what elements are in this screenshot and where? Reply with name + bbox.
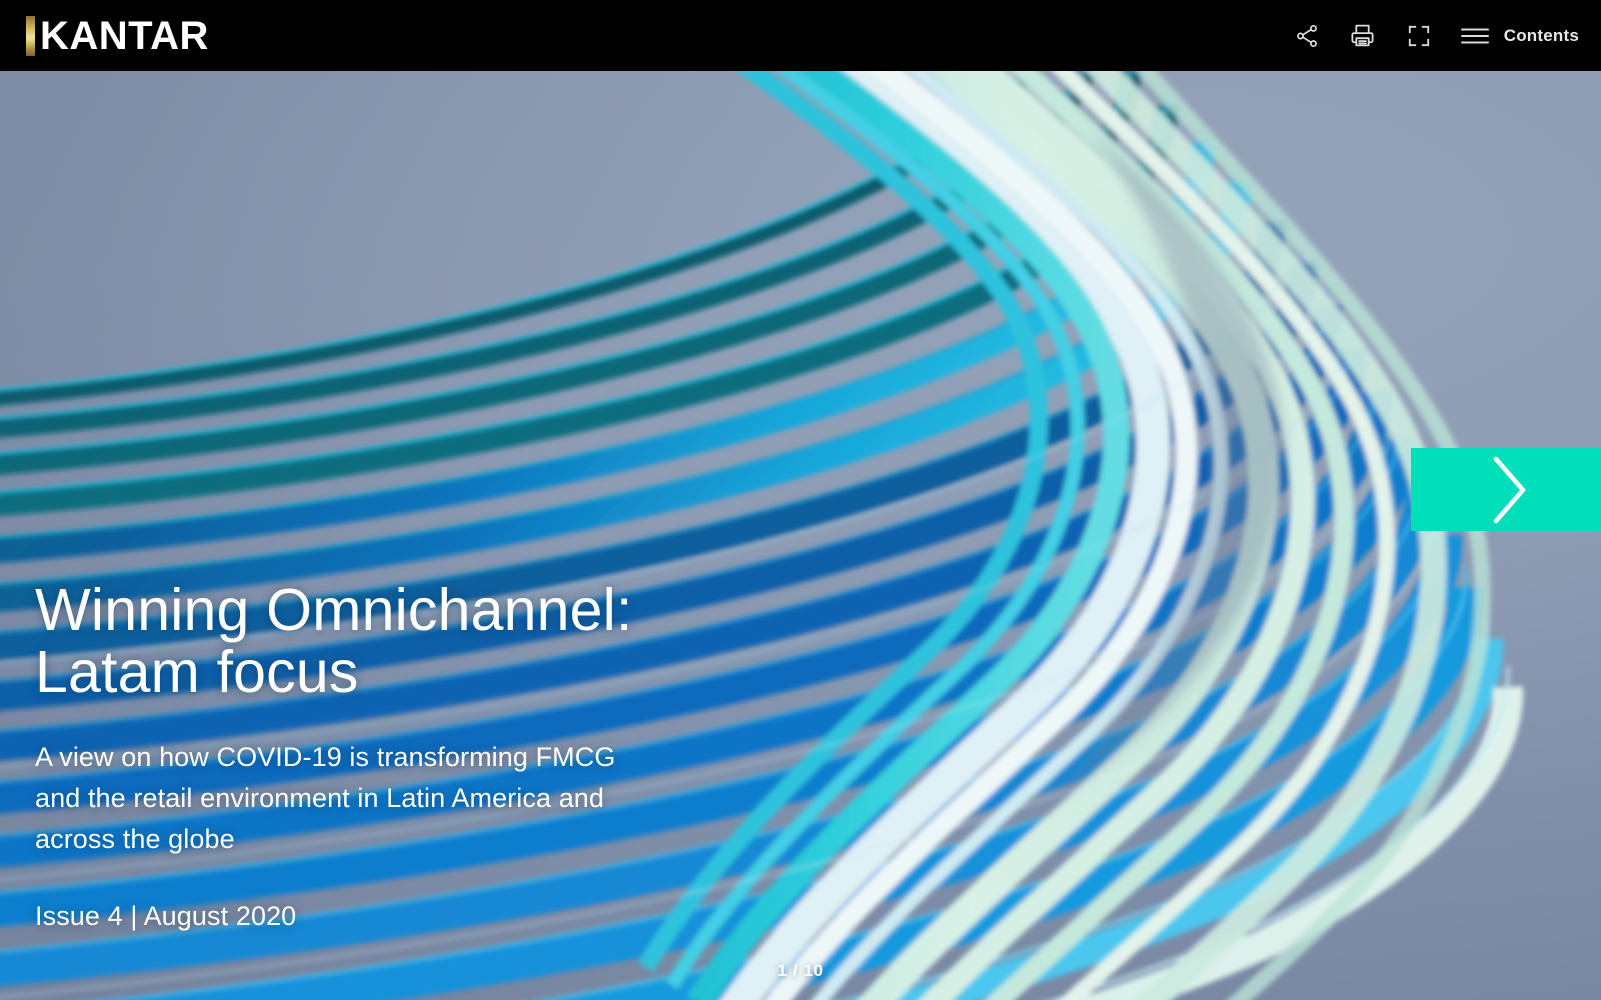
page-subtitle: A view on how COVID-19 is transforming F… (35, 737, 795, 860)
slide-canvas: Winning Omnichannel: Latam focus A view … (0, 71, 1601, 1000)
chevron-right-icon (1479, 451, 1533, 529)
hamburger-menu-icon[interactable] (1460, 21, 1490, 51)
kantar-logo[interactable]: KANTAR (26, 12, 209, 60)
contents-menu-button[interactable]: Contents (1460, 21, 1579, 51)
issue-line: Issue 4 | August 2020 (35, 900, 795, 932)
top-toolbar: KANTAR (0, 0, 1601, 71)
next-page-button[interactable] (1411, 448, 1601, 531)
share-icon[interactable] (1292, 21, 1322, 51)
fullscreen-icon[interactable] (1404, 21, 1434, 51)
page-title: Winning Omnichannel: Latam focus (35, 579, 795, 703)
contents-label: Contents (1504, 26, 1579, 46)
logo-wordmark: KANTAR (40, 16, 209, 56)
slide-copy: Winning Omnichannel: Latam focus A view … (35, 579, 795, 932)
logo-accent-bar-icon (26, 16, 35, 56)
toolbar-actions: Contents (1292, 0, 1579, 71)
page-counter: 1 / 10 (0, 961, 1601, 981)
document-viewer: KANTAR (0, 0, 1601, 1000)
print-icon[interactable] (1348, 21, 1378, 51)
